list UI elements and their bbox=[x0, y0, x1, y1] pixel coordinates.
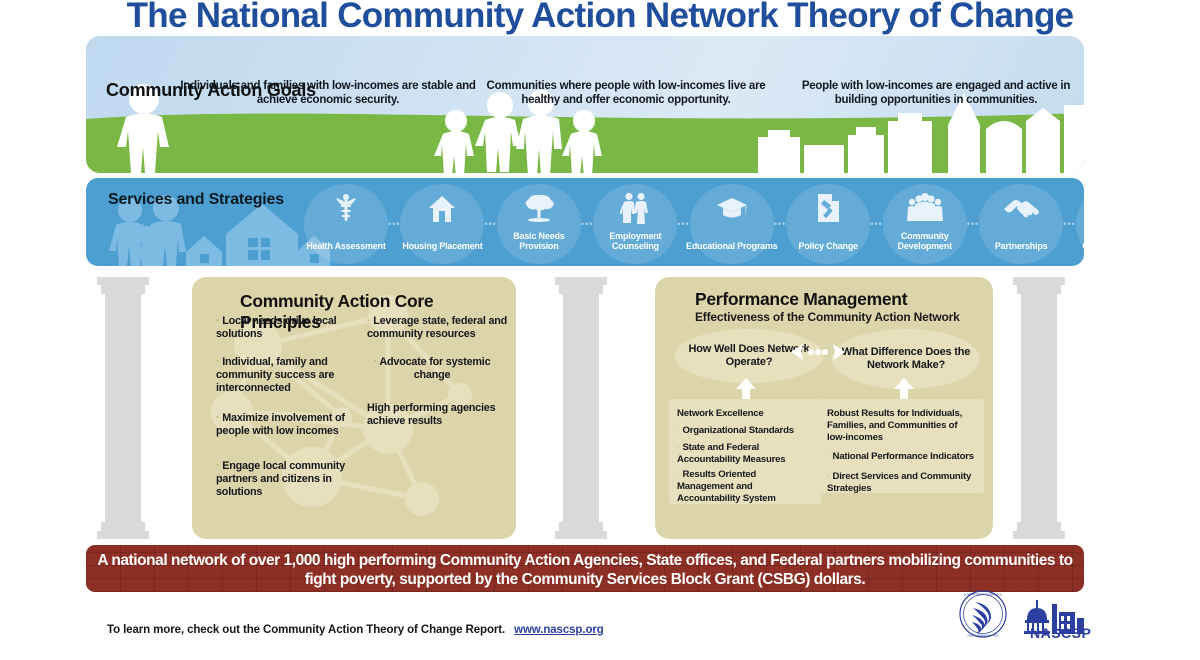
service-basic-needs-provision[interactable]: Basic Needs Provision bbox=[497, 184, 581, 264]
banner-text: A national network of over 1,000 high pe… bbox=[94, 551, 1076, 589]
services-icon-row: Health Assessment ••• Housing Placement … bbox=[304, 181, 1084, 266]
robust-results-item-1: · National Performance Indicators bbox=[827, 451, 976, 463]
network-excellence-title: Network Excellence bbox=[677, 408, 813, 420]
service-educational-programs[interactable]: Educational Programs bbox=[690, 184, 774, 264]
service-label: Health Assessment bbox=[300, 241, 392, 264]
service-employment-counseling[interactable]: Employment Counseling bbox=[593, 184, 677, 264]
service-health-assessment[interactable]: Health Assessment bbox=[304, 184, 388, 264]
core-principle-6: High performing agencies achieve results bbox=[367, 402, 516, 428]
core-principle-2: · Leverage state, federal and community … bbox=[367, 315, 516, 341]
service-collective-impact[interactable]: Collective Impact bbox=[1076, 184, 1084, 264]
service-label: Collective Impact bbox=[1072, 241, 1084, 264]
service-label: Policy Change bbox=[782, 241, 874, 264]
people-group-icon bbox=[883, 191, 967, 225]
core-principle-7: · Engage local community partners and ci… bbox=[216, 460, 361, 500]
svg-text:★ DEPARTMENT OF HEALTH ★: ★ DEPARTMENT OF HEALTH ★ bbox=[964, 592, 1003, 596]
nascsp-website-link[interactable]: www.nascsp.org bbox=[514, 624, 604, 636]
robust-results-box: Robust Results for Individuals, Families… bbox=[819, 399, 984, 493]
collaboration-icon bbox=[1076, 191, 1084, 225]
core-principle-3: · Individual, family and community succe… bbox=[216, 356, 361, 396]
caduceus-icon bbox=[304, 191, 388, 225]
service-label: Housing Placement bbox=[396, 241, 488, 264]
performance-subheading: Effectiveness of the Community Action Ne… bbox=[695, 310, 960, 324]
core-principle-5: · Maximize involvement of people with lo… bbox=[216, 412, 366, 438]
handshake-icon bbox=[979, 191, 1063, 225]
robust-results-item-2: · Direct Services and Community Strategi… bbox=[827, 471, 976, 495]
community-action-goals-panel: Community Action Goals Individuals and f… bbox=[86, 36, 1084, 173]
core-principles-card: Community Action Core Principles · Local… bbox=[192, 277, 516, 539]
svg-text:HUMAN SERVICES • USA: HUMAN SERVICES • USA bbox=[968, 634, 999, 638]
goal-item-2: Communities where people with low-income… bbox=[476, 79, 776, 107]
service-label: Educational Programs bbox=[686, 241, 778, 264]
service-policy-change[interactable]: Policy Change bbox=[786, 184, 870, 264]
pillar-left bbox=[95, 277, 151, 539]
goal-item-3: People with low-incomes are engaged and … bbox=[786, 79, 1084, 107]
network-excellence-box: Network Excellence · Organizational Stan… bbox=[669, 399, 821, 504]
document-gavel-icon bbox=[786, 191, 870, 225]
graduation-cap-icon bbox=[690, 191, 774, 225]
services-heading: Services and Strategies bbox=[108, 191, 284, 209]
robust-results-title: Robust Results for Individuals, Families… bbox=[827, 408, 976, 444]
two-people-icon bbox=[593, 191, 677, 225]
service-label: Partnerships bbox=[975, 241, 1067, 264]
network-excellence-item-1: · Organizational Standards bbox=[677, 425, 813, 437]
pillar-right bbox=[1011, 277, 1067, 539]
hhs-seal-logo: ★ DEPARTMENT OF HEALTH ★ HUMAN SERVICES … bbox=[960, 591, 1006, 638]
core-principle-1: · Local needs drive local solutions bbox=[216, 315, 356, 341]
performance-heading: Performance Management bbox=[695, 289, 907, 310]
service-label: Employment Counseling bbox=[589, 231, 681, 264]
tree-icon bbox=[497, 191, 581, 225]
service-housing-placement[interactable]: Housing Placement bbox=[400, 184, 484, 264]
service-community-development[interactable]: Community Development bbox=[883, 184, 967, 264]
service-label: Community Development bbox=[879, 231, 971, 264]
core-principle-4: · Advocate for systemic change bbox=[367, 356, 497, 382]
service-label: Basic Needs Provision bbox=[493, 231, 585, 264]
network-excellence-item-2: · State and Federal Accountability Measu… bbox=[677, 442, 813, 466]
foundation-banner: A national network of over 1,000 high pe… bbox=[86, 545, 1084, 592]
house-icon bbox=[400, 191, 484, 225]
service-partnerships[interactable]: Partnerships bbox=[979, 184, 1063, 264]
page-title: The National Community Action Network Th… bbox=[0, 0, 1200, 36]
nascsp-wordmark: NASCSP bbox=[1030, 625, 1091, 641]
footer-text-row: To learn more, check out the Community A… bbox=[107, 624, 604, 636]
double-arrow-icon bbox=[789, 339, 847, 365]
goal-item-1: Individuals and families with low-income… bbox=[178, 79, 478, 107]
services-and-strategies-panel: Services and Strategies Health Assessmen… bbox=[86, 178, 1084, 266]
infographic-canvas: The National Community Action Network Th… bbox=[0, 0, 1200, 660]
footer-label: To learn more, check out the Community A… bbox=[107, 624, 505, 636]
performance-management-card: Performance Management Effectiveness of … bbox=[655, 277, 993, 539]
network-excellence-item-3: · Results Oriented Management and Accoun… bbox=[677, 469, 813, 505]
pillar-middle bbox=[553, 277, 609, 539]
